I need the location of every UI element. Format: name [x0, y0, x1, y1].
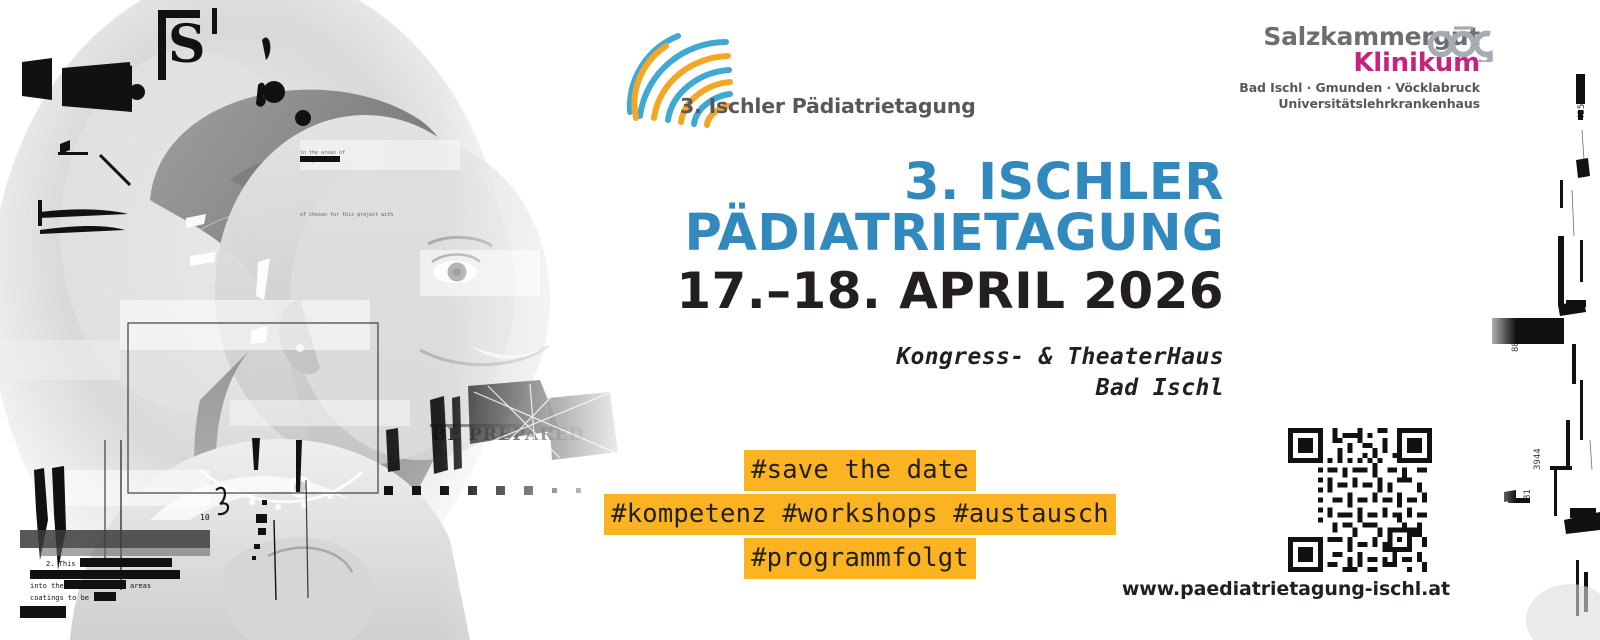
svg-text:10: 10 — [200, 513, 210, 522]
headline-line2: PÄDIATRIETAGUNG — [520, 207, 1224, 261]
svg-text:coatings to be: coatings to be — [30, 594, 89, 602]
hashtag-row-3: #programmfolgt — [560, 538, 1160, 579]
svg-text:in the areas of: in the areas of — [300, 150, 345, 156]
svg-text:of chosen for this project wit: of chosen for this project with — [300, 212, 393, 218]
svg-text:areas: areas — [130, 582, 151, 590]
hashtag-block: #save the date #kompetenz #workshops #au… — [560, 450, 1160, 582]
photo-collage-right: 88 3944 81 425 — [1480, 0, 1600, 640]
svg-text:into the: into the — [30, 582, 64, 590]
ooe-logo-icon — [1424, 22, 1496, 62]
headline-date: 17.–18. APRIL 2026 — [520, 262, 1224, 321]
qr-code[interactable] — [1288, 428, 1432, 572]
hashtag-kompetenz-workshops-austausch: #kompetenz #workshops #austausch — [604, 494, 1116, 535]
collage-right-artwork: 88 3944 81 425 — [1480, 0, 1600, 640]
website-url[interactable]: www.paediatrietagung-ischl.at — [1000, 578, 1450, 600]
hashtag-row-2: #kompetenz #workshops #austausch — [560, 494, 1160, 535]
hashtag-programmfolgt: #programmfolgt — [744, 538, 976, 579]
headline-block: 3. ISCHLER PÄDIATRIETAGUNG 17.–18. APRIL… — [520, 158, 1224, 321]
hashtag-row-1: #save the date — [560, 450, 1160, 491]
hashtag-save-the-date: #save the date — [744, 450, 976, 491]
event-logo-label: 3. Ischler Pädiatrietagung — [680, 94, 976, 118]
svg-text:2. This: 2. This — [46, 560, 76, 568]
venue-line2: Bad Ischl — [520, 373, 1224, 404]
clinic-logo-line3: Bad Ischl · Gmunden · Vöcklabruck — [1180, 80, 1480, 96]
clinic-logo-line4: Universitätslehrkrankenhaus — [1180, 96, 1480, 112]
venue-line1: Kongress- & TheaterHaus — [520, 342, 1224, 373]
event-logo: 3. Ischler Pädiatrietagung — [622, 32, 922, 132]
venue-block: Kongress- & TheaterHaus Bad Ischl — [520, 342, 1224, 403]
poster-canvas: S — [0, 0, 1600, 640]
svg-text:S: S — [168, 14, 206, 75]
headline-line1: 3. ISCHLER — [520, 158, 1224, 207]
svg-text:425: 425 — [1577, 104, 1587, 120]
